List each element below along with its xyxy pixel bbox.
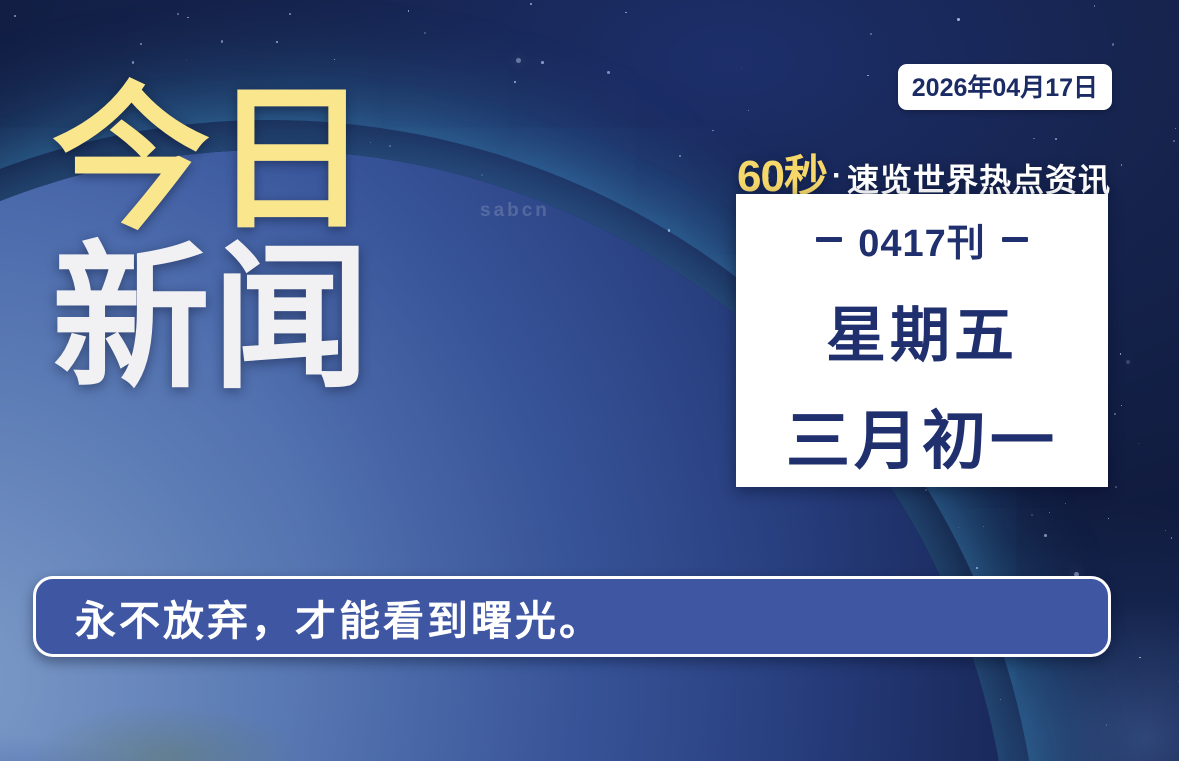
tagline-separator-dot: ·: [832, 159, 842, 192]
page-title-line-2: 新闻: [52, 247, 372, 392]
issue-number-row: 0417刊: [816, 212, 1028, 267]
weekday-label: 星期五: [826, 287, 1018, 374]
page-title-line-1: 今日: [52, 88, 372, 233]
news-poster: sabcn 今日 新闻 2026年04月17日 60秒·速览世界热点资讯 041…: [0, 0, 1179, 761]
lunar-date-label: 三月初一: [786, 390, 1058, 482]
issue-card: 0417刊 星期五 三月初一: [736, 194, 1108, 487]
date-badge: 2026年04月17日: [898, 64, 1112, 110]
tagline-text: 速览世界热点资讯: [847, 162, 1111, 198]
quote-text: 永不放弃，才能看到曙光。: [75, 587, 603, 647]
page-title: 今日 新闻: [52, 88, 372, 393]
quote-banner: 永不放弃，才能看到曙光。: [33, 576, 1111, 657]
dash-right-icon: [1002, 237, 1028, 242]
watermark: sabcn: [480, 200, 550, 222]
issue-number: 0417刊: [858, 212, 986, 267]
dash-left-icon: [816, 237, 842, 242]
